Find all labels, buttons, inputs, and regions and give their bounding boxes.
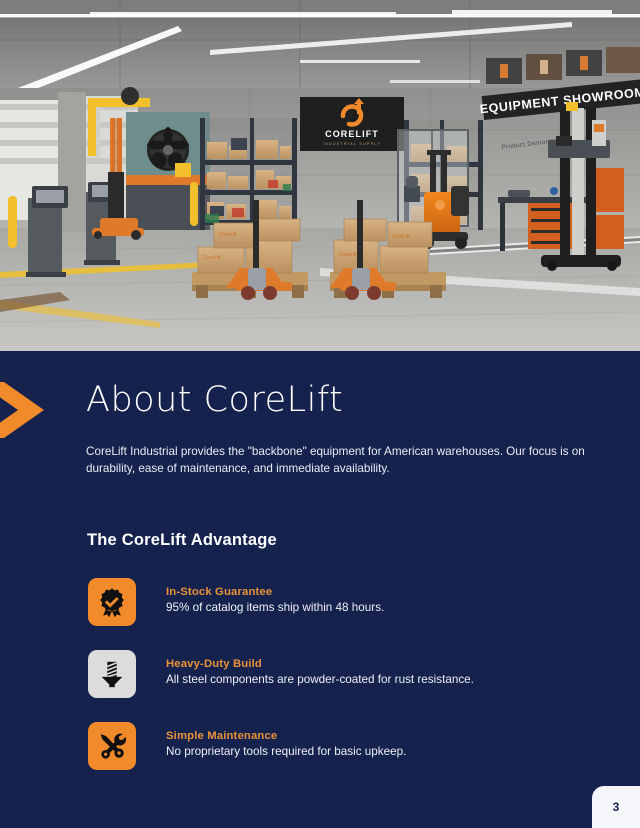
feature-description: All steel components are powder-coated f… bbox=[166, 673, 474, 686]
feature-title: Simple Maintenance bbox=[166, 730, 406, 742]
feature-item: In-Stock Guarantee 95% of catalog items … bbox=[88, 578, 558, 650]
box-brand-label: CoreLift bbox=[203, 255, 221, 261]
drill-bit-icon bbox=[88, 650, 136, 698]
wrench-screwdriver-icon bbox=[88, 722, 136, 770]
feature-description: No proprietary tools required for basic … bbox=[166, 745, 406, 758]
section-title-advantage: The CoreLift Advantage bbox=[87, 531, 277, 550]
chevron-right-accent-icon bbox=[0, 382, 48, 438]
intro-paragraph: CoreLift Industrial provides the "backbo… bbox=[86, 443, 598, 477]
svg-text:CORELIFT: CORELIFT bbox=[325, 129, 379, 139]
feature-description: 95% of catalog items ship within 48 hour… bbox=[166, 601, 384, 614]
feature-text: Simple Maintenance No proprietary tools … bbox=[166, 730, 406, 758]
box-brand-label: CoreLift bbox=[392, 234, 410, 240]
page-number-badge: 3 bbox=[592, 786, 640, 828]
advantage-feature-list: In-Stock Guarantee 95% of catalog items … bbox=[88, 578, 558, 794]
svg-text:INDUSTRIAL SUPPLY: INDUSTRIAL SUPPLY bbox=[323, 142, 381, 146]
award-badge-check-icon bbox=[88, 578, 136, 626]
feature-text: Heavy-Duty Build All steel components ar… bbox=[166, 658, 474, 686]
about-page: CORELIFT INDUSTRIAL SUPPLY bbox=[0, 0, 640, 828]
hero-warehouse-image: CORELIFT INDUSTRIAL SUPPLY bbox=[0, 0, 640, 351]
feature-title: Heavy-Duty Build bbox=[166, 658, 474, 670]
feature-item: Simple Maintenance No proprietary tools … bbox=[88, 722, 558, 794]
page-title: About CoreLift bbox=[86, 380, 343, 420]
feature-item: Heavy-Duty Build All steel components ar… bbox=[88, 650, 558, 722]
feature-text: In-Stock Guarantee 95% of catalog items … bbox=[166, 586, 384, 614]
box-brand-label: CoreLift bbox=[219, 232, 237, 238]
feature-title: In-Stock Guarantee bbox=[166, 586, 384, 598]
box-brand-label: CoreLift bbox=[339, 252, 357, 258]
